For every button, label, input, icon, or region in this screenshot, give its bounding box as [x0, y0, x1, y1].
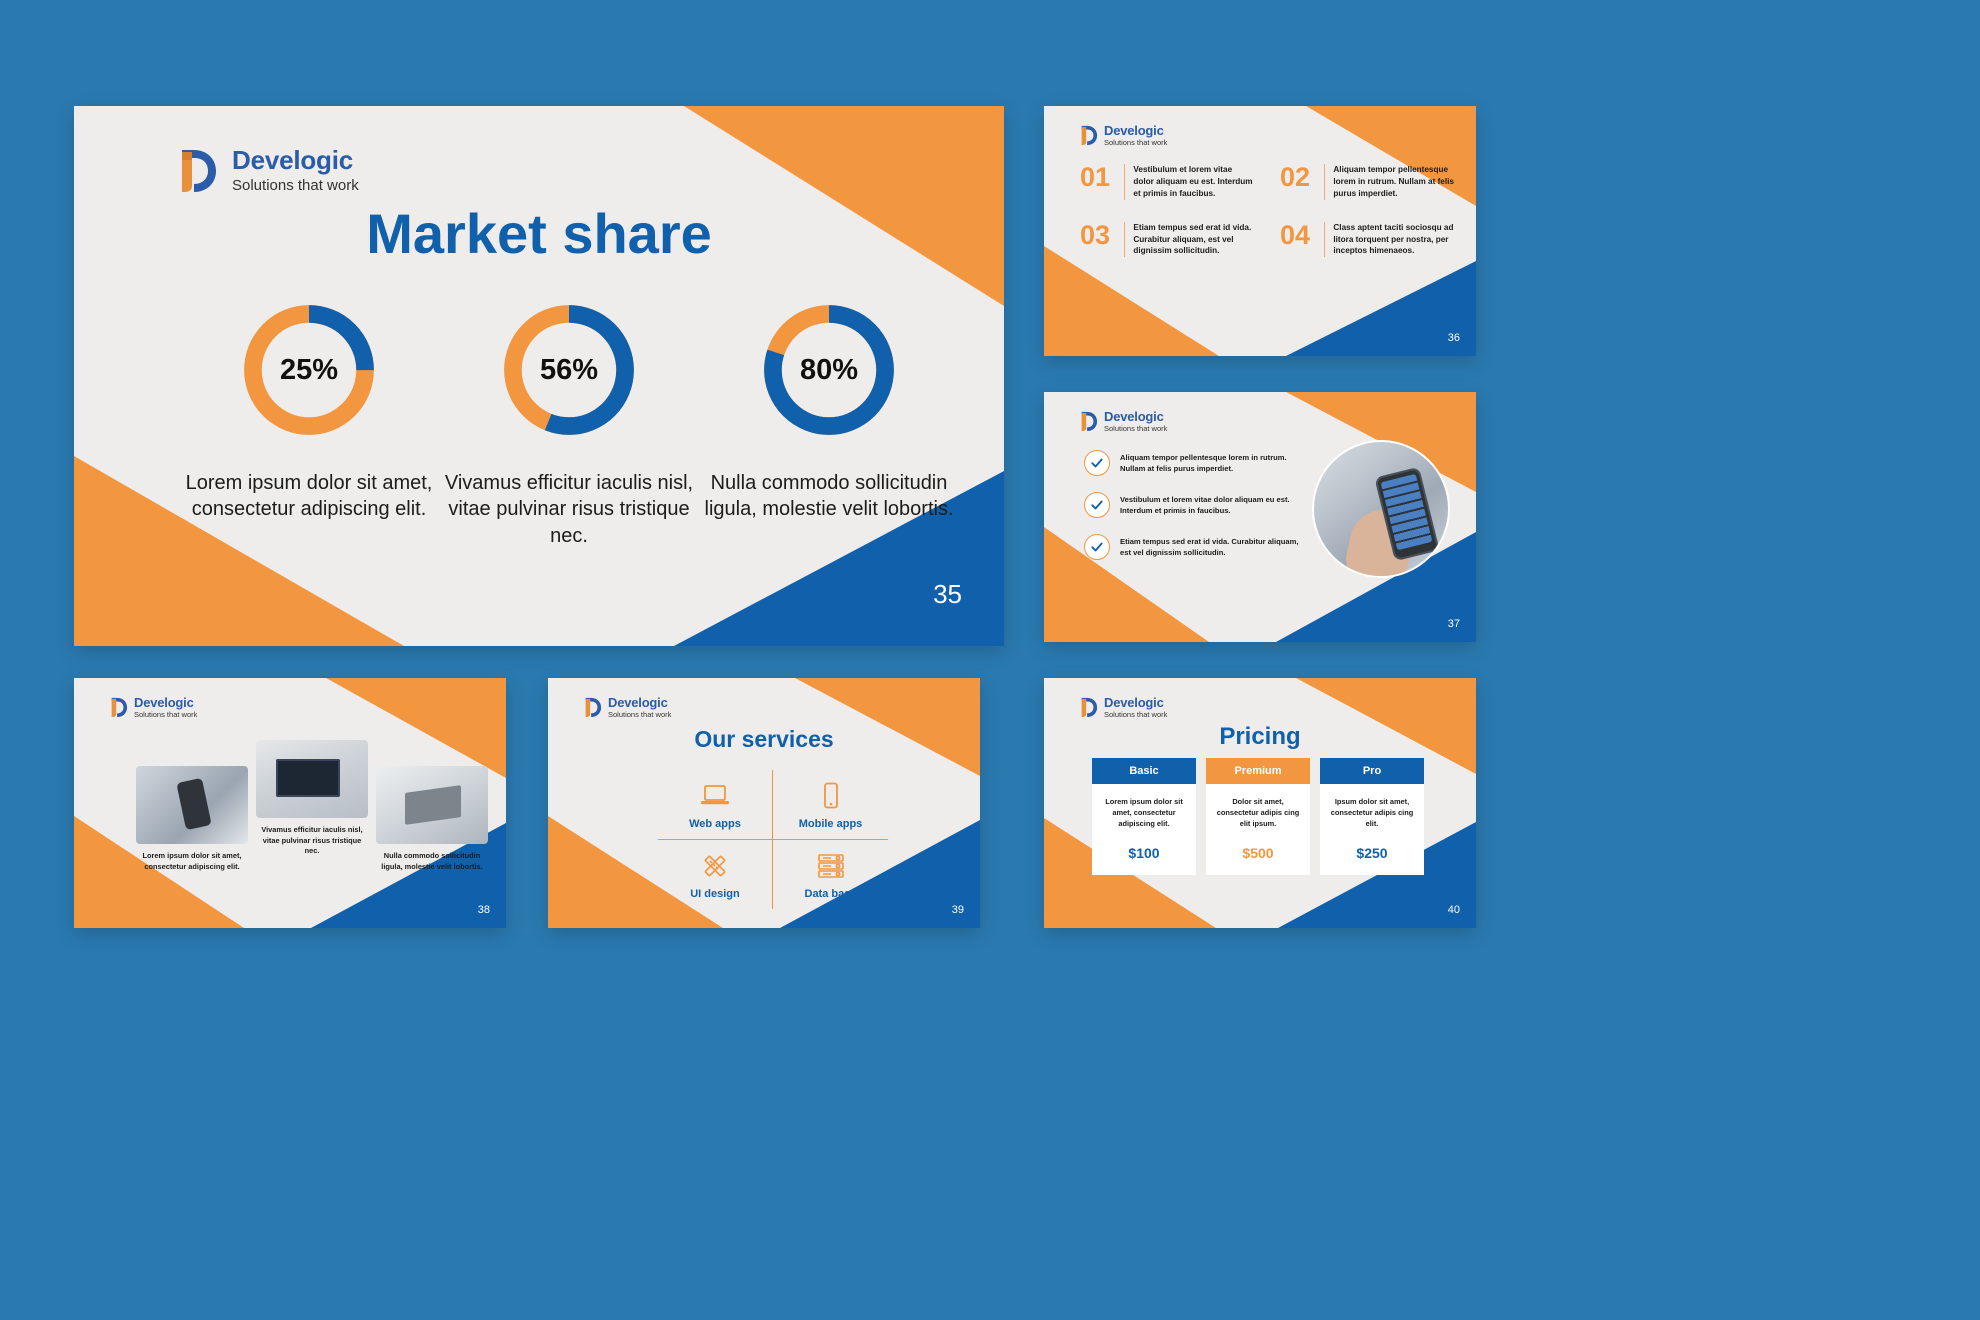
service-item-mobile-apps[interactable]: Mobile apps — [773, 770, 888, 840]
plan-description: Ipsum dolor sit amet, consectetur adipis… — [1329, 796, 1415, 829]
photo-card: Vivamus efficitur iaculis nisl, vitae pu… — [256, 740, 368, 872]
check-icon — [1084, 450, 1110, 476]
brand-logo: Develogic Solutions that work — [1078, 410, 1167, 433]
photo-card: Nulla commodo sollicitudin ligula, moles… — [376, 766, 488, 872]
brand-logo-text: Develogic Solutions that work — [1104, 410, 1167, 433]
brand-logo: Develogic Solutions that work — [1078, 124, 1167, 147]
develogic-logo-icon — [1078, 124, 1098, 146]
card-caption: Lorem ipsum dolor sit amet, consectetur … — [136, 851, 248, 872]
numbered-item: 01 Vestibulum et lorem vitae dolor aliqu… — [1080, 164, 1254, 200]
pricing-plan-basic[interactable]: Basic Lorem ipsum dolor sit amet, consec… — [1092, 758, 1196, 875]
brand-logo-text: Develogic Solutions that work — [232, 147, 359, 193]
donut-caption: Nulla commodo sollicitudin ligula, moles… — [704, 470, 954, 523]
card-image — [256, 740, 368, 818]
donut-caption: Vivamus efficitur iaculis nisl, vitae pu… — [444, 470, 694, 549]
brand-tagline: Solutions that work — [134, 711, 197, 719]
brand-logo: Develogic Solutions that work — [582, 696, 671, 719]
brand-tagline: Solutions that work — [1104, 425, 1167, 433]
checklist-item: Vestibulum et lorem vitae dolor aliquam … — [1084, 492, 1299, 518]
slide-numbered-list[interactable]: Develogic Solutions that work 01 Vestibu… — [1044, 106, 1476, 356]
slide-checklist[interactable]: Develogic Solutions that work Aliquam te… — [1044, 392, 1476, 642]
donut-chart-group: 25% Lorem ipsum dolor sit amet, consecte… — [184, 296, 954, 549]
numbered-item: 02 Aliquam tempor pellentesque lorem in … — [1280, 164, 1454, 200]
slide-pricing[interactable]: Develogic Solutions that work Pricing Ba… — [1044, 678, 1476, 928]
donut-value-label: 80% — [755, 296, 903, 444]
database-icon — [816, 849, 846, 883]
pricing-table: Basic Lorem ipsum dolor sit amet, consec… — [1092, 758, 1424, 875]
service-item-ui-design[interactable]: UI design — [658, 840, 773, 909]
develogic-logo-icon — [582, 696, 602, 718]
card-image — [136, 766, 248, 844]
checklist-text: Etiam tempus sed erat id vida. Curabitur… — [1120, 536, 1299, 558]
page-number: 35 — [933, 579, 962, 610]
checklist-item: Aliquam tempor pellentesque lorem in rut… — [1084, 450, 1299, 476]
checklist-text: Vestibulum et lorem vitae dolor aliquam … — [1120, 494, 1299, 516]
item-text: Vestibulum et lorem vitae dolor aliquam … — [1133, 164, 1254, 200]
brand-logo-text: Develogic Solutions that work — [1104, 124, 1167, 147]
service-label: Mobile apps — [799, 818, 863, 830]
checklist-text: Aliquam tempor pellentesque lorem in rut… — [1120, 452, 1299, 474]
brand-name: Develogic — [608, 696, 671, 709]
phone-photo — [1312, 440, 1450, 578]
plan-body: Dolor sit amet, consectetur adipis cing … — [1206, 784, 1310, 875]
page-number: 36 — [1448, 332, 1460, 344]
brand-name: Develogic — [232, 147, 359, 173]
donut-chart-56: 56% — [495, 296, 643, 444]
donut-item: 56% Vivamus efficitur iaculis nisl, vita… — [444, 296, 694, 549]
brand-logo: Develogic Solutions that work — [1078, 696, 1167, 719]
item-number: 01 — [1080, 164, 1124, 191]
checklist-item: Etiam tempus sed erat id vida. Curabitur… — [1084, 534, 1299, 560]
donut-chart-25: 25% — [235, 296, 383, 444]
donut-item: 25% Lorem ipsum dolor sit amet, consecte… — [184, 296, 434, 549]
page-number: 40 — [1448, 904, 1460, 916]
item-text: Class aptent taciti sociosqu ad litora t… — [1333, 222, 1454, 258]
item-text: Etiam tempus sed erat id vida. Curabitur… — [1133, 222, 1254, 258]
slide-market-share[interactable]: Develogic Solutions that work Market sha… — [74, 106, 1004, 646]
develogic-logo-icon — [174, 146, 218, 194]
brand-logo-text: Develogic Solutions that work — [134, 696, 197, 719]
service-label: Data base — [805, 888, 857, 900]
smartphone-icon — [821, 779, 841, 813]
brand-logo: Develogic Solutions that work — [174, 146, 359, 194]
laptop-icon — [700, 779, 730, 813]
photo-card: Lorem ipsum dolor sit amet, consectetur … — [136, 766, 248, 872]
page-title: Pricing — [1044, 723, 1476, 751]
develogic-logo-icon — [1078, 410, 1098, 432]
check-icon — [1084, 534, 1110, 560]
brand-name: Develogic — [1104, 410, 1167, 423]
numbered-item: 03 Etiam tempus sed erat id vida. Curabi… — [1080, 222, 1254, 258]
check-icon — [1084, 492, 1110, 518]
item-number: 03 — [1080, 222, 1124, 249]
item-text: Aliquam tempor pellentesque lorem in rut… — [1333, 164, 1454, 200]
numbered-items-grid: 01 Vestibulum et lorem vitae dolor aliqu… — [1080, 164, 1454, 257]
brand-tagline: Solutions that work — [608, 711, 671, 719]
donut-chart-80: 80% — [755, 296, 903, 444]
item-number: 02 — [1280, 164, 1324, 191]
card-caption: Vivamus efficitur iaculis nisl, vitae pu… — [256, 825, 368, 857]
donut-caption: Lorem ipsum dolor sit amet, consectetur … — [184, 470, 434, 523]
plan-body: Ipsum dolor sit amet, consectetur adipis… — [1320, 784, 1424, 875]
service-item-data-base[interactable]: Data base — [773, 840, 888, 909]
brand-tagline: Solutions that work — [1104, 139, 1167, 147]
service-label: Web apps — [689, 818, 741, 830]
page-number: 39 — [952, 904, 964, 916]
plan-name: Premium — [1206, 758, 1310, 784]
page-title: Market share — [74, 201, 1004, 266]
donut-item: 80% Nulla commodo sollicitudin ligula, m… — [704, 296, 954, 549]
decor-corner-bottom-left — [1044, 246, 1219, 356]
plan-price: $500 — [1215, 845, 1301, 861]
page-number: 37 — [1448, 618, 1460, 630]
pricing-plan-pro[interactable]: Pro Ipsum dolor sit amet, consectetur ad… — [1320, 758, 1424, 875]
brand-name: Develogic — [1104, 696, 1167, 709]
brand-logo-text: Develogic Solutions that work — [1104, 696, 1167, 719]
brand-tagline: Solutions that work — [232, 178, 359, 193]
plan-description: Lorem ipsum dolor sit amet, consectetur … — [1101, 796, 1187, 829]
card-image — [376, 766, 488, 844]
brand-name: Develogic — [134, 696, 197, 709]
donut-value-label: 56% — [495, 296, 643, 444]
plan-price: $100 — [1101, 845, 1187, 861]
numbered-item: 04 Class aptent taciti sociosqu ad litor… — [1280, 222, 1454, 258]
pencil-ruler-icon — [701, 849, 729, 883]
page-number: 38 — [478, 904, 490, 916]
service-item-web-apps[interactable]: Web apps — [658, 770, 773, 840]
pricing-plan-premium[interactable]: Premium Dolor sit amet, consectetur adip… — [1206, 758, 1310, 875]
services-grid: Web apps Mobile apps — [658, 770, 888, 909]
checklist: Aliquam tempor pellentesque lorem in rut… — [1084, 450, 1299, 560]
donut-value-label: 25% — [235, 296, 383, 444]
brand-tagline: Solutions that work — [1104, 711, 1167, 719]
plan-name: Basic — [1092, 758, 1196, 784]
item-number: 04 — [1280, 222, 1324, 249]
develogic-logo-icon — [1078, 696, 1098, 718]
photo-card-group: Lorem ipsum dolor sit amet, consectetur … — [136, 740, 488, 872]
slide-services[interactable]: Develogic Solutions that work Our servic… — [548, 678, 980, 928]
plan-name: Pro — [1320, 758, 1424, 784]
develogic-logo-icon — [108, 696, 128, 718]
card-caption: Nulla commodo sollicitudin ligula, moles… — [376, 851, 488, 872]
service-label: UI design — [690, 888, 740, 900]
plan-description: Dolor sit amet, consectetur adipis cing … — [1215, 796, 1301, 829]
brand-logo: Develogic Solutions that work — [108, 696, 197, 719]
brand-name: Develogic — [1104, 124, 1167, 137]
plan-price: $250 — [1329, 845, 1415, 861]
plan-body: Lorem ipsum dolor sit amet, consectetur … — [1092, 784, 1196, 875]
slide-photo-cards[interactable]: Develogic Solutions that work Lorem ipsu… — [74, 678, 506, 928]
brand-logo-text: Develogic Solutions that work — [608, 696, 671, 719]
page-title: Our services — [548, 726, 980, 753]
